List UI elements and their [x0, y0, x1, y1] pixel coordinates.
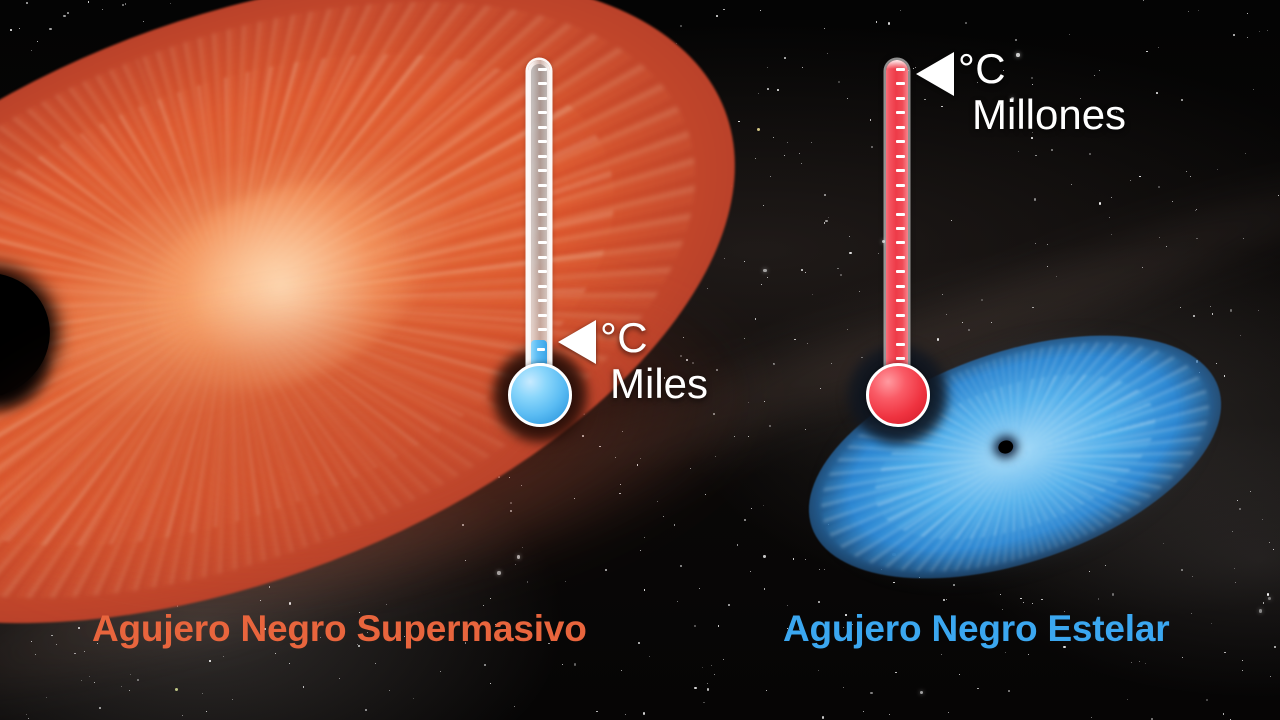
caption-stellar-black-hole: Agujero Negro Estelar — [783, 608, 1169, 650]
tick-mark — [538, 169, 547, 172]
tick-mark — [896, 126, 905, 129]
cool-magnitude-label: Miles — [610, 363, 708, 405]
tick-mark — [538, 299, 547, 302]
tick-mark — [896, 184, 905, 187]
tick-mark — [538, 97, 547, 100]
hot-readout: °C Millones — [958, 48, 1126, 136]
tick-mark — [538, 155, 547, 158]
stem-tick-marks — [893, 68, 905, 386]
tick-mark — [896, 169, 905, 172]
tick-mark — [896, 227, 905, 230]
infographic-canvas: °C Miles °C Millones Agujero Negro Super… — [0, 0, 1280, 720]
tick-mark — [896, 299, 905, 302]
tick-mark — [538, 256, 547, 259]
tick-mark — [896, 357, 905, 360]
tick-mark — [538, 111, 547, 114]
tick-mark — [896, 314, 905, 317]
tick-mark — [538, 328, 547, 331]
tick-mark — [896, 256, 905, 259]
tick-mark — [896, 343, 905, 346]
tick-mark — [896, 140, 905, 143]
tick-mark — [538, 198, 547, 201]
tick-mark — [538, 314, 547, 317]
tick-mark — [538, 140, 547, 143]
tick-mark — [538, 68, 547, 71]
tick-mark — [538, 126, 547, 129]
tick-mark — [538, 227, 547, 230]
tick-mark — [896, 270, 905, 273]
caption-supermassive-black-hole: Agujero Negro Supermasivo — [92, 608, 587, 650]
hot-unit-label: °C — [958, 48, 1126, 90]
tick-mark — [896, 198, 905, 201]
tick-mark — [538, 241, 547, 244]
tick-mark — [896, 82, 905, 85]
thermometer-bulb — [866, 363, 930, 427]
tick-mark — [896, 241, 905, 244]
thermometer-bulb — [508, 363, 572, 427]
tick-mark — [896, 111, 905, 114]
tick-mark — [896, 68, 905, 71]
cool-unit-label: °C — [600, 317, 708, 359]
tick-mark — [896, 97, 905, 100]
tick-mark — [896, 328, 905, 331]
thermometer-stem — [886, 60, 908, 390]
tick-mark — [896, 155, 905, 158]
cool-readout: °C Miles — [600, 317, 708, 405]
tick-mark — [538, 270, 547, 273]
triangle-left-icon — [558, 320, 596, 364]
tick-mark — [538, 82, 547, 85]
stem-tick-marks — [535, 68, 547, 386]
hot-magnitude-label: Millones — [972, 94, 1126, 136]
tick-mark — [538, 184, 547, 187]
tick-mark — [538, 213, 547, 216]
triangle-left-icon — [916, 52, 954, 96]
tick-mark — [537, 348, 545, 351]
tick-mark — [896, 285, 905, 288]
tick-mark — [896, 213, 905, 216]
tick-mark — [538, 285, 547, 288]
